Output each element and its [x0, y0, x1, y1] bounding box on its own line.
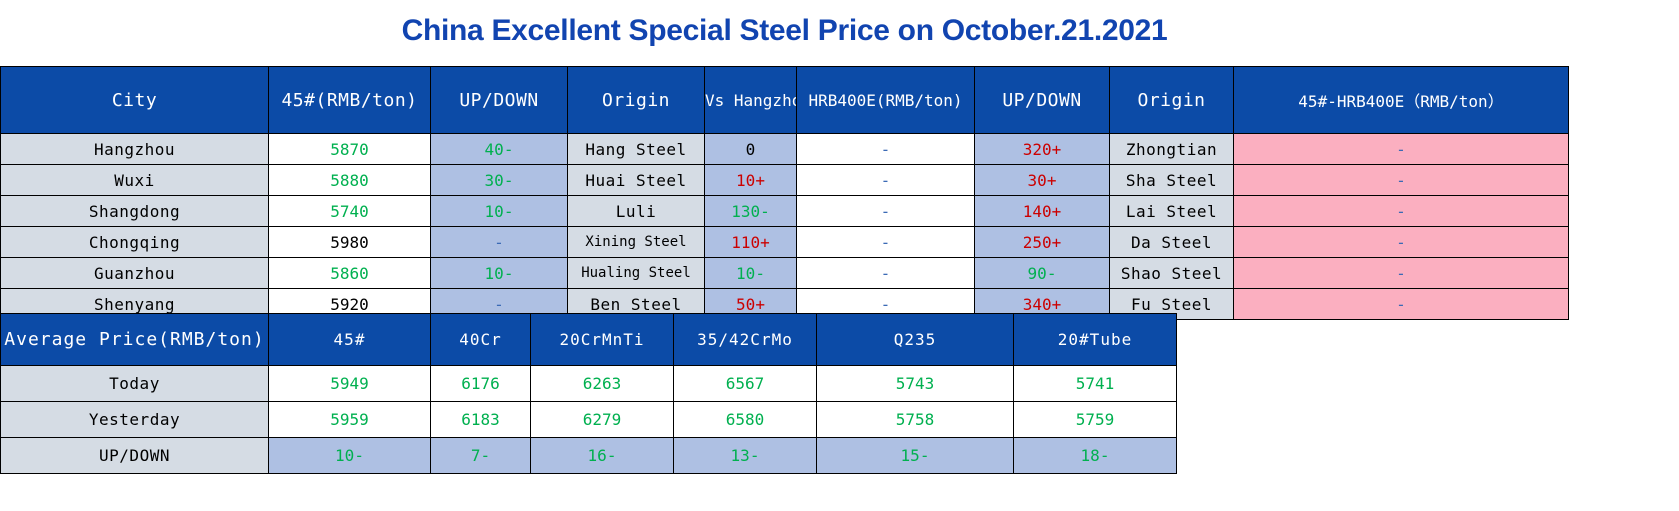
cell-price-diff: - [1234, 134, 1569, 165]
average-value: 5741 [1014, 366, 1177, 402]
cell-origin-45: Hang Steel [568, 134, 705, 165]
cell-updown-45: - [431, 227, 568, 258]
average-value: 15- [817, 438, 1014, 474]
cell-price-diff: - [1234, 227, 1569, 258]
average-value: 5743 [817, 366, 1014, 402]
cell-price-45: 5980 [269, 227, 431, 258]
average-column-header: Q235 [817, 314, 1014, 366]
column-header: 45#-HRB400E（RMB/ton） [1234, 67, 1569, 134]
average-value: 5949 [269, 366, 431, 402]
cell-updown-hrb: 320+ [975, 134, 1110, 165]
page-title: China Excellent Special Steel Price on O… [0, 14, 1569, 48]
cell-vs-hangzhou: 10+ [705, 165, 797, 196]
average-value: 5959 [269, 402, 431, 438]
column-header: 45#(RMB/ton) [269, 67, 431, 134]
average-column-header: 40Cr [431, 314, 531, 366]
cell-city: Shangdong [1, 196, 269, 227]
average-price-table: Average Price(RMB/ton)45#40Cr20CrMnTi35/… [0, 313, 1177, 474]
average-column-header: 20#Tube [1014, 314, 1177, 366]
table-row: Chongqing5980-Xining Steel110+-250+Da St… [1, 227, 1569, 258]
cell-hrb400e: - [797, 134, 975, 165]
column-header: Origin [568, 67, 705, 134]
column-header: Origin [1110, 67, 1234, 134]
average-value: 6567 [674, 366, 817, 402]
cell-vs-hangzhou: 10- [705, 258, 797, 289]
table-row: Hangzhou587040-Hang Steel0-320+Zhongtian… [1, 134, 1569, 165]
average-row-label: UP/DOWN [1, 438, 269, 474]
cell-updown-45: 40- [431, 134, 568, 165]
average-value: 7- [431, 438, 531, 474]
average-value: 6580 [674, 402, 817, 438]
average-value: 18- [1014, 438, 1177, 474]
cell-price-45: 5740 [269, 196, 431, 227]
cell-vs-hangzhou: 110+ [705, 227, 797, 258]
average-row-label: Today [1, 366, 269, 402]
table-row: Wuxi588030-Huai Steel10+-30+Sha Steel- [1, 165, 1569, 196]
cell-city: Chongqing [1, 227, 269, 258]
average-value: 5758 [817, 402, 1014, 438]
cell-updown-hrb: 140+ [975, 196, 1110, 227]
cell-origin-45: Huai Steel [568, 165, 705, 196]
cell-updown-45: 10- [431, 196, 568, 227]
cell-hrb400e: - [797, 258, 975, 289]
average-header-row: Average Price(RMB/ton)45#40Cr20CrMnTi35/… [1, 314, 1177, 366]
cell-vs-hangzhou: 0 [705, 134, 797, 165]
average-row: UP/DOWN10-7-16-13-15-18- [1, 438, 1177, 474]
column-header: UP/DOWN [431, 67, 568, 134]
cell-price-45: 5870 [269, 134, 431, 165]
cell-origin-hrb: Sha Steel [1110, 165, 1234, 196]
average-row: Yesterday595961836279658057585759 [1, 402, 1177, 438]
table-header-row: City45#(RMB/ton)UP/DOWNOriginVs Hangzhou… [1, 67, 1569, 134]
cell-vs-hangzhou: 130- [705, 196, 797, 227]
cell-city: Wuxi [1, 165, 269, 196]
cell-origin-45: Hualing Steel [568, 258, 705, 289]
cell-origin-45: Luli [568, 196, 705, 227]
cell-price-45: 5860 [269, 258, 431, 289]
average-value: 6263 [531, 366, 674, 402]
average-column-header: 20CrMnTi [531, 314, 674, 366]
cell-price-diff: - [1234, 165, 1569, 196]
cell-updown-45: 30- [431, 165, 568, 196]
steel-price-report: China Excellent Special Steel Price on O… [0, 0, 1679, 511]
table-row: Guanzhou586010-Hualing Steel10--90-Shao … [1, 258, 1569, 289]
cell-origin-45: Xining Steel [568, 227, 705, 258]
average-column-header: 35/42CrMo [674, 314, 817, 366]
cell-origin-hrb: Zhongtian [1110, 134, 1234, 165]
table-row: Shangdong574010-Luli130--140+Lai Steel- [1, 196, 1569, 227]
cell-updown-hrb: 30+ [975, 165, 1110, 196]
cell-price-45: 5880 [269, 165, 431, 196]
cell-updown-hrb: 250+ [975, 227, 1110, 258]
average-value: 10- [269, 438, 431, 474]
average-row: Today594961766263656757435741 [1, 366, 1177, 402]
average-column-header: 45# [269, 314, 431, 366]
average-value: 13- [674, 438, 817, 474]
average-value: 6176 [431, 366, 531, 402]
column-header: City [1, 67, 269, 134]
cell-origin-hrb: Da Steel [1110, 227, 1234, 258]
cell-city: Hangzhou [1, 134, 269, 165]
cell-hrb400e: - [797, 165, 975, 196]
column-header: Vs Hangzhou [705, 67, 797, 134]
average-value: 5759 [1014, 402, 1177, 438]
cell-price-diff: - [1234, 196, 1569, 227]
average-value: 16- [531, 438, 674, 474]
cell-origin-hrb: Lai Steel [1110, 196, 1234, 227]
cell-hrb400e: - [797, 196, 975, 227]
cell-price-diff: - [1234, 289, 1569, 320]
city-price-table: City45#(RMB/ton)UP/DOWNOriginVs Hangzhou… [0, 66, 1569, 320]
cell-updown-45: 10- [431, 258, 568, 289]
average-value: 6183 [431, 402, 531, 438]
cell-price-diff: - [1234, 258, 1569, 289]
column-header: UP/DOWN [975, 67, 1110, 134]
average-column-header: Average Price(RMB/ton) [1, 314, 269, 366]
average-value: 6279 [531, 402, 674, 438]
cell-hrb400e: - [797, 227, 975, 258]
column-header: HRB400E(RMB/ton) [797, 67, 975, 134]
average-row-label: Yesterday [1, 402, 269, 438]
cell-origin-hrb: Shao Steel [1110, 258, 1234, 289]
cell-updown-hrb: 90- [975, 258, 1110, 289]
cell-city: Guanzhou [1, 258, 269, 289]
